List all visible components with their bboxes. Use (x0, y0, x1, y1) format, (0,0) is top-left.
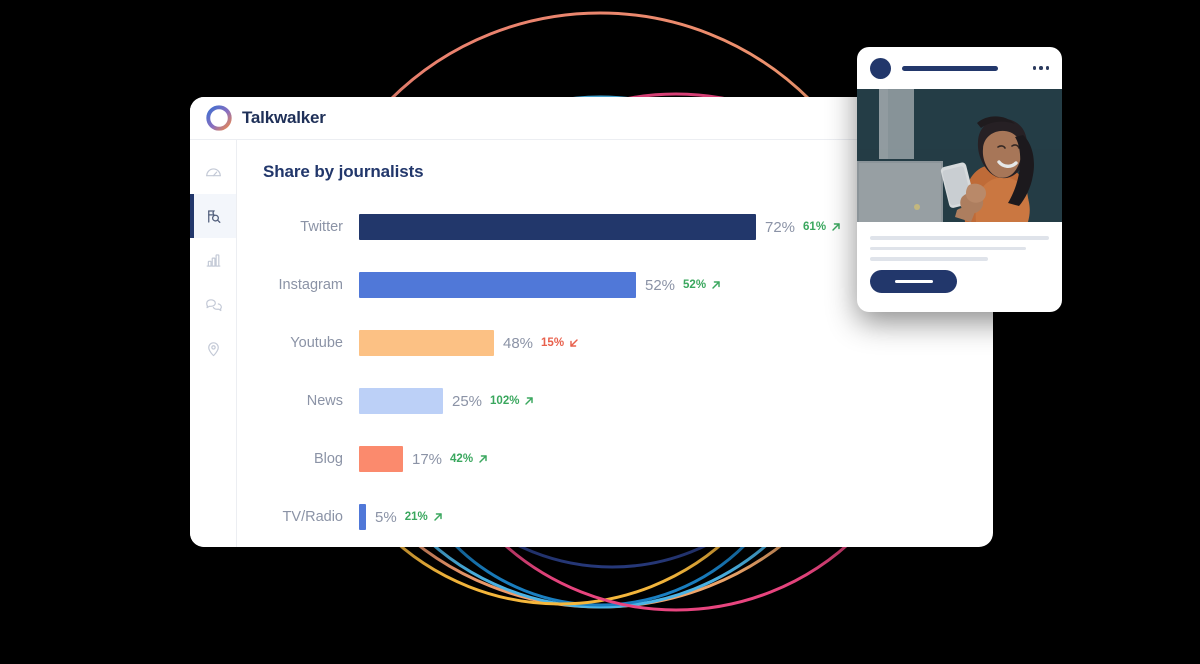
chat-bubbles-icon (204, 295, 223, 314)
delta-text: 42% (450, 453, 473, 465)
cta-label-placeholder (895, 280, 933, 283)
delta-text: 102% (490, 395, 519, 407)
more-options-icon[interactable] (1033, 66, 1050, 70)
sidebar-item-location[interactable] (190, 326, 236, 370)
text-placeholder-line (870, 247, 1026, 251)
bar-label-instagram: Instagram (263, 277, 359, 293)
bar-fill-blog[interactable] (359, 446, 403, 472)
dot (1039, 66, 1043, 70)
bar-track: 17% 42% (359, 446, 993, 472)
bar-value-news: 25% (452, 393, 482, 410)
card-footer (857, 222, 1062, 293)
bar-fill-tv-radio[interactable] (359, 504, 366, 530)
sidebar-item-conversations[interactable] (190, 282, 236, 326)
bar-label-news: News (263, 393, 359, 409)
bar-delta-blog: 42% (450, 453, 489, 465)
bar-fill-twitter[interactable] (359, 214, 756, 240)
bar-fill-instagram[interactable] (359, 272, 636, 298)
bar-track: 5% 21% (359, 504, 993, 530)
text-placeholder-line (870, 236, 1049, 240)
bar-value-blog: 17% (412, 451, 442, 468)
delta-text: 52% (683, 279, 706, 291)
woman-smiling-at-phone-photo (857, 89, 1062, 222)
bar-value-tv-radio: 5% (375, 509, 397, 526)
arrow-up-right-icon (477, 453, 489, 465)
bar-label-youtube: Youtube (263, 335, 359, 351)
location-pin-icon (204, 339, 223, 358)
social-post-card (857, 47, 1062, 312)
bar-delta-youtube: 15% (541, 337, 580, 349)
cta-button[interactable] (870, 270, 957, 293)
sidebar-item-analytics[interactable] (190, 238, 236, 282)
bar-label-blog: Blog (263, 451, 359, 467)
bar-track: 48% 15% (359, 330, 993, 356)
bar-fill-youtube[interactable] (359, 330, 494, 356)
post-photo (857, 89, 1062, 222)
bar-fill-news[interactable] (359, 388, 443, 414)
card-header (857, 47, 1062, 89)
arrow-up-right-icon (710, 279, 722, 291)
bar-row: Blog 17% 42% (263, 430, 993, 488)
sidebar-item-search[interactable] (190, 194, 236, 238)
bar-row: News 25% 102% (263, 372, 993, 430)
talkwalker-logo-icon (206, 105, 232, 131)
bar-value-instagram: 52% (645, 277, 675, 294)
arrow-up-right-icon (523, 395, 535, 407)
bar-track: 25% 102% (359, 388, 993, 414)
bar-label-twitter: Twitter (263, 219, 359, 235)
search-flag-icon (204, 207, 223, 226)
bar-delta-instagram: 52% (683, 279, 722, 291)
bar-delta-twitter: 61% (803, 221, 842, 233)
dot (1033, 66, 1037, 70)
arrow-down-left-icon (568, 337, 580, 349)
bar-chart-icon (204, 251, 223, 270)
bar-value-youtube: 48% (503, 335, 533, 352)
arrow-up-right-icon (830, 221, 842, 233)
bar-label-tv-radio: TV/Radio (263, 509, 359, 525)
sidebar (190, 140, 237, 547)
delta-text: 61% (803, 221, 826, 233)
bar-row: TV/Radio 5% 21% (263, 488, 993, 546)
bar-delta-news: 102% (490, 395, 535, 407)
delta-text: 15% (541, 337, 564, 349)
author-name-placeholder (902, 66, 998, 71)
bar-value-twitter: 72% (765, 219, 795, 236)
avatar (870, 58, 891, 79)
dot (1046, 66, 1050, 70)
sidebar-item-dashboard[interactable] (190, 150, 236, 194)
gauge-icon (204, 163, 223, 182)
text-placeholder-line (870, 257, 988, 261)
bar-row: Youtube 48% 15% (263, 314, 993, 372)
brand-name: Talkwalker (242, 108, 326, 128)
bar-delta-tv-radio: 21% (405, 511, 444, 523)
arrow-up-right-icon (432, 511, 444, 523)
delta-text: 21% (405, 511, 428, 523)
